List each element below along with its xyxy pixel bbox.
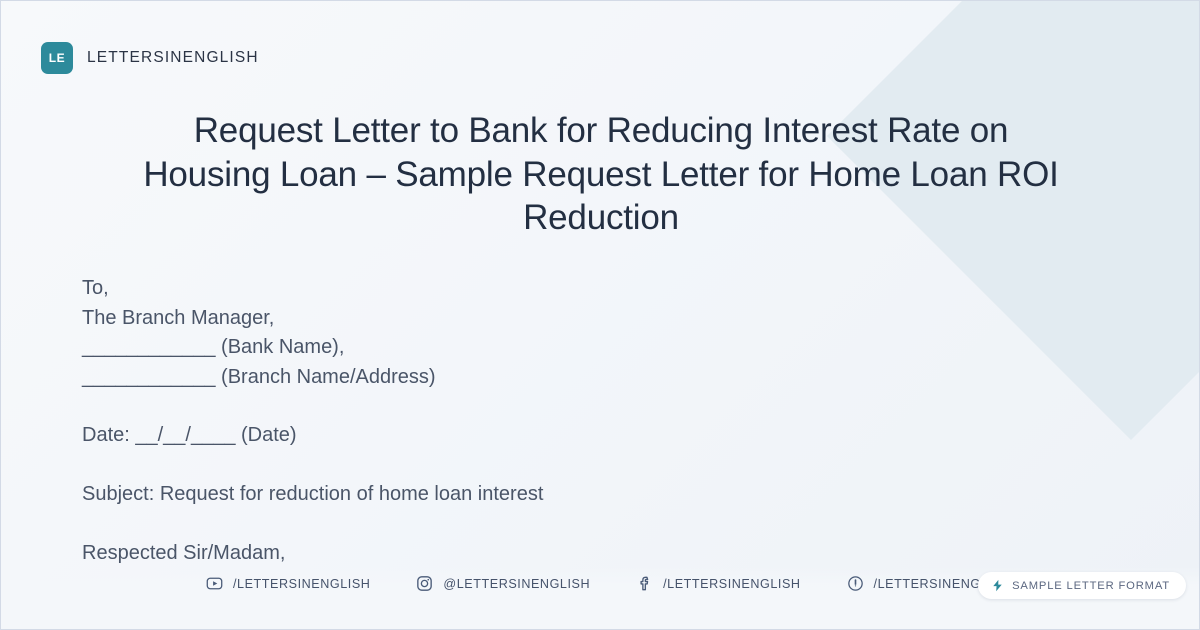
letter-line-branch-address: ____________ (Branch Name/Address) bbox=[82, 363, 1062, 393]
letter-body: To, The Branch Manager, ____________ (Ba… bbox=[82, 274, 1062, 568]
letter-spacer-1 bbox=[82, 392, 1062, 421]
letter-spacer-2 bbox=[82, 451, 1062, 480]
poster-canvas: LE LETTERSINENGLISH Request Letter to Ba… bbox=[0, 0, 1200, 630]
brand-logo[interactable]: LE LETTERSINENGLISH bbox=[41, 42, 259, 74]
social-links-row: /LETTERSINENGLISH @LETTERSINENGLISH bbox=[206, 575, 1011, 592]
brand-mark-icon: LE bbox=[41, 42, 73, 74]
letter-line-branch-manager: The Branch Manager, bbox=[82, 304, 1062, 334]
status-badge-label: SAMPLE LETTER FORMAT bbox=[1012, 580, 1170, 592]
page-title-line-3: Reduction bbox=[523, 198, 679, 237]
pinterest-icon bbox=[847, 575, 864, 592]
brand-name-label: LETTERSINENGLISH bbox=[87, 49, 259, 67]
social-label-facebook: /LETTERSINENGLISH bbox=[663, 577, 800, 591]
page-title-line-1: Request Letter to Bank for Reducing Inte… bbox=[194, 111, 1009, 150]
page-title-line-2: Housing Loan – Sample Request Letter for… bbox=[143, 155, 1058, 194]
letter-spacer-3 bbox=[82, 510, 1062, 539]
letter-line-subject: Subject: Request for reduction of home l… bbox=[82, 480, 1062, 510]
footer-bar: /LETTERSINENGLISH @LETTERSINENGLISH bbox=[1, 567, 1199, 629]
social-link-instagram[interactable]: @LETTERSINENGLISH bbox=[416, 575, 590, 592]
letter-line-date: Date: __/__/____ (Date) bbox=[82, 421, 1062, 451]
youtube-icon bbox=[206, 575, 223, 592]
lightning-bolt-icon bbox=[991, 579, 1004, 592]
status-badge[interactable]: SAMPLE LETTER FORMAT bbox=[978, 572, 1186, 599]
social-link-youtube[interactable]: /LETTERSINENGLISH bbox=[206, 575, 370, 592]
letter-line-to: To, bbox=[82, 274, 1062, 304]
letter-line-salutation: Respected Sir/Madam, bbox=[82, 539, 1062, 569]
social-link-facebook[interactable]: /LETTERSINENGLISH bbox=[636, 575, 800, 592]
page-title: Request Letter to Bank for Reducing Inte… bbox=[71, 109, 1131, 240]
social-label-youtube: /LETTERSINENGLISH bbox=[233, 577, 370, 591]
facebook-icon bbox=[636, 575, 653, 592]
letter-line-bank-name: ____________ (Bank Name), bbox=[82, 333, 1062, 363]
social-label-instagram: @LETTERSINENGLISH bbox=[443, 577, 590, 591]
instagram-icon bbox=[416, 575, 433, 592]
